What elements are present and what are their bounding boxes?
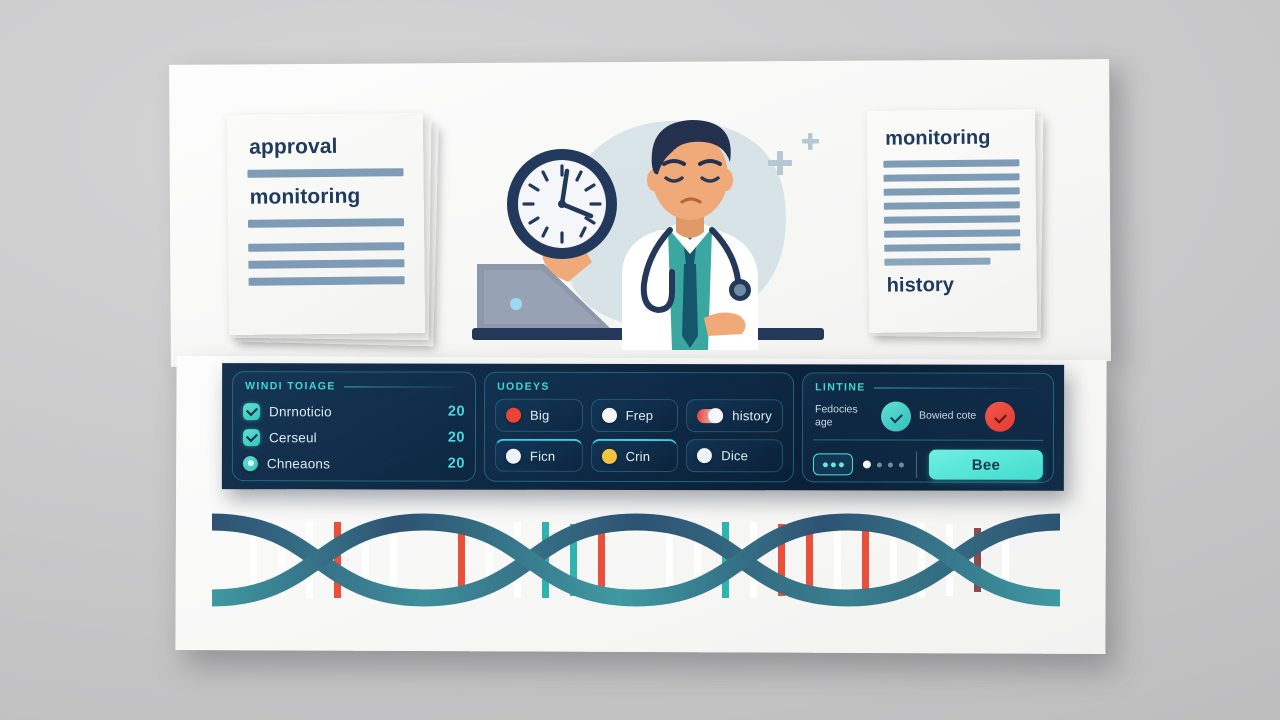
tiles-section: UODEYS Big Frep history Ficn — [484, 372, 794, 483]
doctor-hand — [704, 312, 746, 336]
status-item-label: Bowied cote — [919, 410, 977, 423]
status-dot-icon — [506, 408, 521, 423]
checkbox-checked-icon[interactable] — [243, 429, 260, 446]
tired-doctor-with-clock-at-laptop — [472, 104, 852, 350]
doc-right-rule — [884, 201, 1020, 209]
checkbox-checked-icon[interactable] — [243, 403, 260, 420]
paper-sheet-front: monitoring history — [867, 109, 1037, 333]
checklist-row[interactable]: Chneaons 20 — [243, 450, 465, 476]
doc-left-rule — [248, 259, 404, 269]
tile-option-toggle[interactable]: history — [686, 399, 783, 432]
status-badge-check-icon[interactable] — [881, 401, 911, 431]
doc-left-rule — [247, 168, 403, 178]
status-badge-alert-icon[interactable] — [985, 402, 1015, 432]
doctor-ear — [719, 169, 733, 191]
doc-left-title-approval: approval — [249, 135, 403, 159]
doc-right-rule — [884, 258, 990, 266]
title-divider — [874, 387, 1043, 388]
monitoring-history-document: monitoring history — [868, 110, 1036, 332]
doctor-necktie — [682, 264, 698, 348]
checklist-row-value: 20 — [448, 404, 465, 420]
doc-right-rule — [884, 229, 1020, 237]
doc-right-rule — [884, 173, 1020, 181]
doc-right-rule — [883, 159, 1019, 167]
doc-left-rule — [248, 218, 404, 228]
approval-monitoring-document-stack: approval monitoring — [228, 114, 424, 334]
doc-right-rule — [884, 215, 1020, 223]
doc-left-title-monitoring: monitoring — [250, 185, 404, 209]
doc-right-title-history: history — [887, 274, 1021, 296]
doc-right-rule — [884, 187, 1020, 195]
checklist-section-title: WINDI TOIAGE — [245, 380, 465, 392]
stethoscope-chestpiece — [734, 284, 746, 296]
checklist-section: WINDI TOIAGE Dnrnoticio 20 Cerseul 20 Ch… — [232, 371, 476, 482]
screenshot-canvas: approval monitoring monitoring — [0, 0, 1280, 720]
wall-clock-icon — [507, 149, 617, 259]
tile-label: Dice — [721, 448, 748, 463]
status-dot-icon — [602, 448, 617, 463]
checklist-row-label: Dnrnoticio — [269, 404, 439, 419]
dna-double-helix — [212, 500, 1060, 620]
doc-left-rule — [249, 276, 405, 286]
tile-label: Ficn — [530, 448, 555, 463]
doc-right-title-monitoring: monitoring — [885, 127, 1019, 149]
checkbox-dot-icon[interactable] — [243, 456, 258, 471]
tile-label: history — [732, 408, 772, 423]
tile-option[interactable]: Crin — [591, 439, 679, 472]
tile-label: Frep — [626, 408, 654, 423]
paper-sheet-front: approval monitoring — [227, 113, 425, 335]
status-item-label: Fedocies age — [815, 403, 873, 429]
checklist-row-label: Chneaons — [267, 456, 439, 471]
title-divider — [344, 386, 465, 387]
action-row: Bee — [813, 440, 1043, 479]
tile-option[interactable]: Dice — [686, 439, 783, 472]
status-row: Fedocies age Bowied cote — [813, 399, 1043, 440]
checklist-row-value: 20 — [448, 430, 465, 446]
status-section-title: LINTINE — [815, 381, 1043, 393]
doc-left-rule — [248, 242, 404, 252]
checklist-row[interactable]: Cerseul 20 — [243, 424, 465, 450]
more-options-chip[interactable] — [813, 453, 853, 475]
tile-label: Big — [530, 408, 549, 423]
tiles-section-title: UODEYS — [497, 381, 783, 394]
doctor-ear — [647, 169, 661, 191]
checklist-row-value: 20 — [448, 456, 465, 472]
checklist-row[interactable]: Dnrnoticio 20 — [243, 398, 465, 424]
dark-control-panel: WINDI TOIAGE Dnrnoticio 20 Cerseul 20 Ch… — [222, 363, 1064, 491]
tile-option[interactable]: Big — [495, 399, 583, 432]
vertical-divider — [916, 452, 917, 478]
toggle-switch[interactable] — [697, 409, 723, 423]
status-dot-icon — [602, 408, 617, 423]
primary-action-button[interactable]: Bee — [929, 450, 1043, 480]
tile-option[interactable]: Ficn — [495, 439, 583, 472]
checklist-row-label: Cerseul — [269, 430, 439, 445]
tile-option[interactable]: Frep — [591, 399, 679, 432]
status-dot-icon — [697, 448, 712, 463]
doc-right-rule — [884, 243, 1020, 251]
status-section: LINTINE Fedocies age Bowied cote Bee — [802, 372, 1054, 483]
tile-label: Crin — [626, 448, 651, 463]
tile-grid: Big Frep history Ficn Crin — [495, 399, 783, 473]
status-dot-icon — [506, 448, 521, 463]
pagination-dots[interactable] — [863, 460, 904, 468]
